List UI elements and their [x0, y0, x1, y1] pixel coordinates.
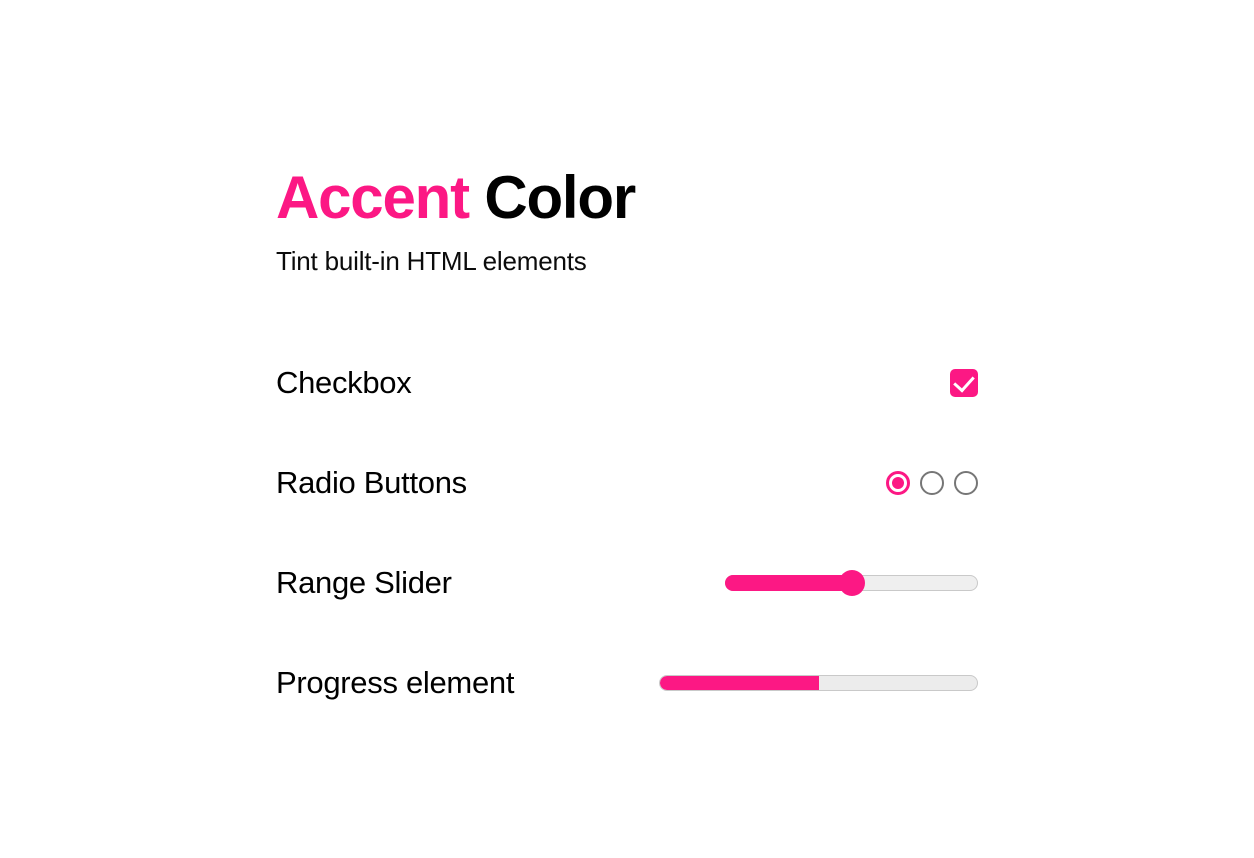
- range-slider-input[interactable]: [725, 570, 978, 596]
- row-label-progress-element: Progress element: [276, 665, 514, 701]
- page-title-accent-word: Accent: [276, 164, 469, 231]
- progress-bar-fill: [660, 676, 819, 690]
- radio-option-3[interactable]: [954, 471, 978, 495]
- range-slider-fill: [725, 575, 852, 591]
- row-radio-buttons: Radio Buttons: [276, 433, 978, 533]
- page-title-rest-word: Color: [469, 164, 635, 231]
- radio-option-1[interactable]: [886, 471, 910, 495]
- row-control-range-slider: [725, 570, 978, 596]
- row-progress-element: Progress element: [276, 633, 978, 733]
- checkbox-input[interactable]: [950, 369, 978, 397]
- page-title: Accent Color: [276, 168, 978, 228]
- row-control-progress-element: [659, 675, 978, 691]
- progress-bar: [659, 675, 978, 691]
- row-label-range-slider: Range Slider: [276, 565, 452, 601]
- row-checkbox: Checkbox: [276, 333, 978, 433]
- row-control-checkbox: [950, 369, 978, 397]
- control-rows: Checkbox Radio Buttons: [276, 333, 978, 733]
- accent-color-demo-page: Accent Color Tint built-in HTML elements…: [0, 0, 1254, 858]
- radio-option-2[interactable]: [920, 471, 944, 495]
- row-label-checkbox: Checkbox: [276, 365, 411, 401]
- checkmark-icon: [953, 370, 975, 392]
- range-slider-thumb[interactable]: [839, 570, 865, 596]
- page-subtitle: Tint built-in HTML elements: [276, 246, 978, 277]
- row-control-radio-buttons: [886, 471, 978, 495]
- radio-group: [886, 471, 978, 495]
- content-container: Accent Color Tint built-in HTML elements…: [276, 168, 978, 733]
- row-label-radio-buttons: Radio Buttons: [276, 465, 467, 501]
- row-range-slider: Range Slider: [276, 533, 978, 633]
